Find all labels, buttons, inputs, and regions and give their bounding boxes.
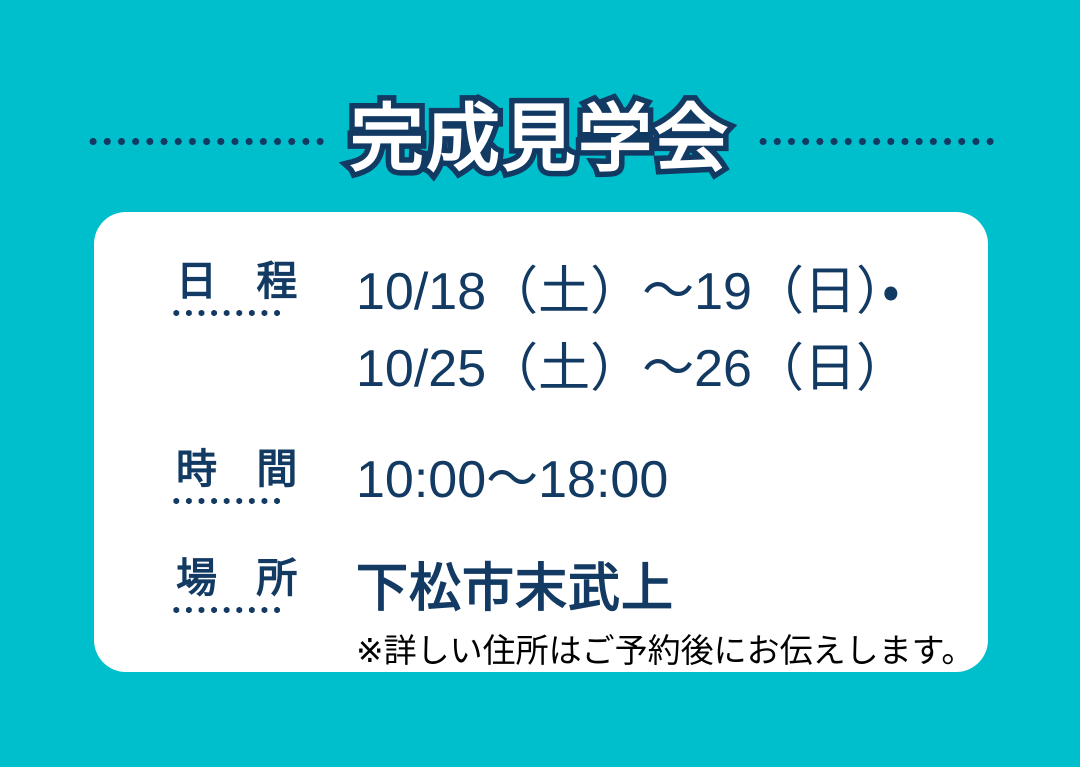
detail-value-date-line-1: 10/18（土）〜19（日）・ [356, 254, 988, 331]
dotted-rule-left-icon [86, 138, 324, 145]
detail-label-date-cell: 日 程 [170, 254, 356, 316]
detail-label-place: 場 所 [170, 557, 356, 600]
label-underline-dots-icon [170, 310, 283, 316]
detail-value-place-cell: 下松市末武上 ※詳しい住所はご予約後にお伝えします。 [356, 551, 988, 671]
detail-row-place: 場 所 下松市末武上 ※詳しい住所はご予約後にお伝えします。 [94, 551, 988, 671]
label-underline-dots-icon [170, 498, 283, 504]
detail-value-date-line-2: 10/25（土）〜26（日） [356, 331, 988, 408]
detail-value-time: 10:00〜18:00 [356, 442, 988, 519]
event-poster: 完成見学会 日 程 10/18（土）〜19（日）・ 10/25（土）〜26（日）… [0, 0, 1080, 767]
detail-value-place: 下松市末武上 [356, 551, 988, 628]
poster-header: 完成見学会 [0, 92, 1080, 190]
detail-label-place-cell: 場 所 [170, 551, 356, 613]
detail-value-time-cell: 10:00〜18:00 [356, 442, 988, 519]
event-details-card: 日 程 10/18（土）〜19（日）・ 10/25（土）〜26（日） 時 間 1… [94, 212, 988, 672]
detail-label-time-cell: 時 間 [170, 442, 356, 504]
detail-row-date: 日 程 10/18（土）〜19（日）・ 10/25（土）〜26（日） [94, 254, 988, 408]
detail-label-date: 日 程 [170, 260, 356, 303]
detail-value-date-cell: 10/18（土）〜19（日）・ 10/25（土）〜26（日） [356, 254, 988, 408]
dotted-rule-right-icon [756, 138, 994, 145]
detail-label-time: 時 間 [170, 448, 356, 491]
detail-row-time: 時 間 10:00〜18:00 [94, 442, 988, 519]
label-underline-dots-icon [170, 607, 283, 613]
page-title: 完成見学会 [350, 102, 730, 180]
detail-note-place: ※詳しい住所はご予約後にお伝えします。 [356, 630, 988, 671]
